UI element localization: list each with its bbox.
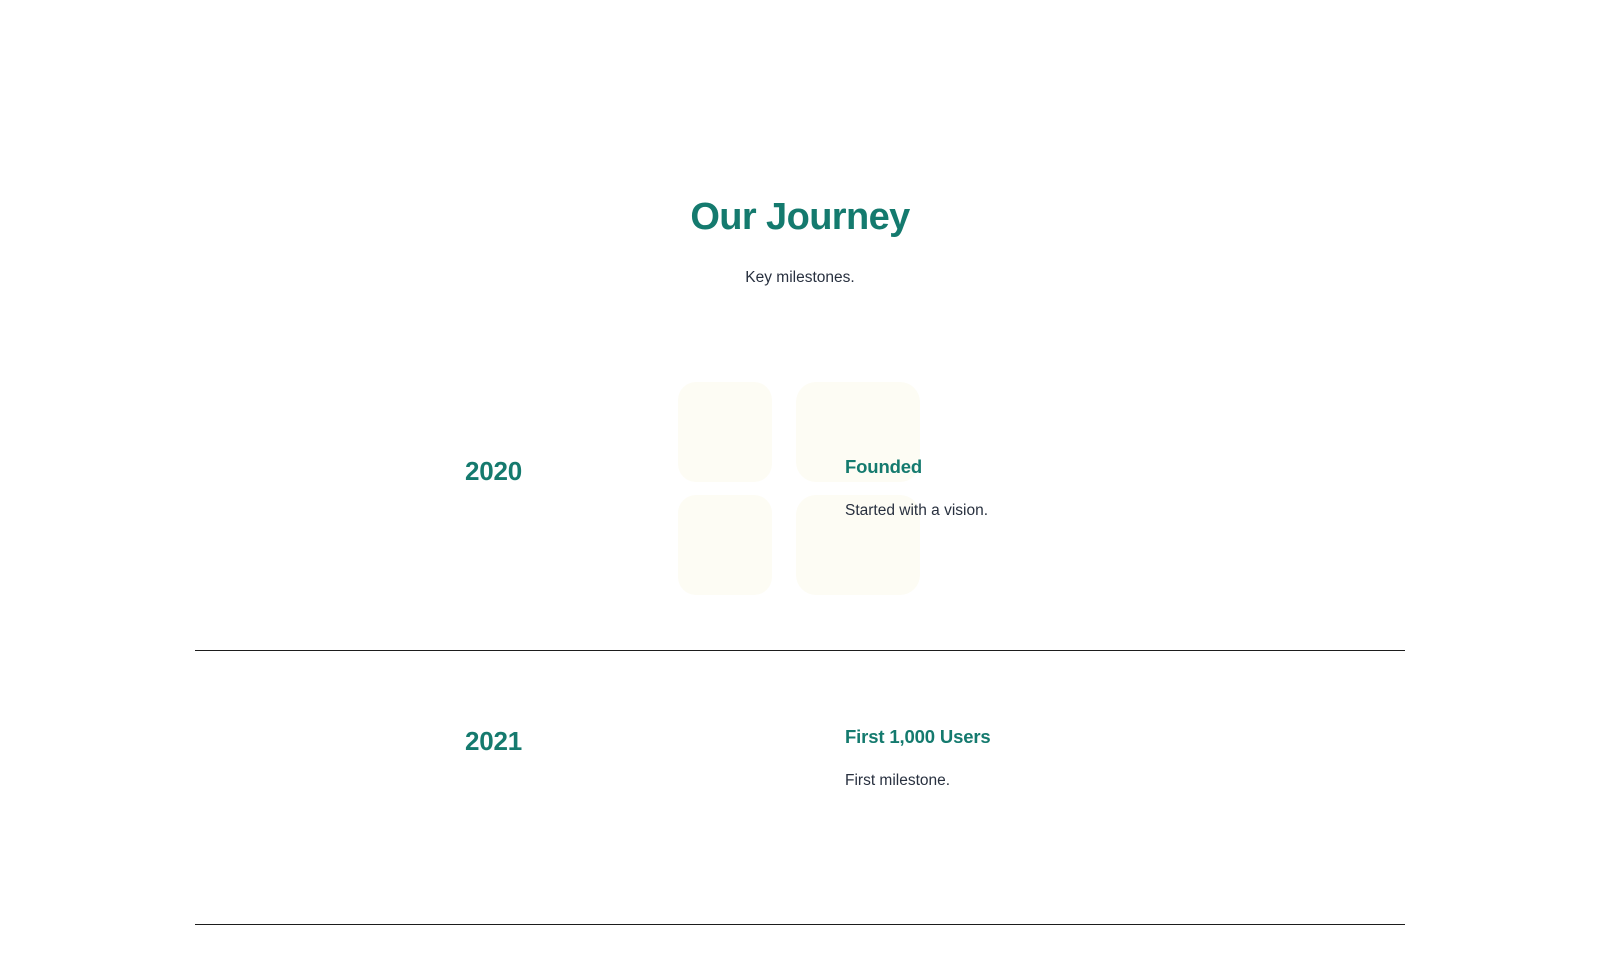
timeline-row: 2021 First 1,000 Users First milestone. [195, 725, 1405, 793]
section-header: Our Journey Key milestones. [0, 196, 1600, 288]
page-title: Our Journey [0, 196, 1600, 240]
timeline-row: 2020 Founded Started with a vision. [195, 455, 1405, 523]
timeline-title: First 1,000 Users [845, 725, 1405, 749]
timeline-year: 2020 [195, 455, 525, 488]
timeline-title: Founded [845, 455, 1405, 479]
timeline-row-body: First 1,000 Users First milestone. [525, 725, 1405, 793]
timeline-divider [195, 924, 1405, 925]
timeline-description: First milestone. [845, 770, 1405, 792]
page-subtitle: Key milestones. [0, 267, 1600, 289]
timeline-description: Started with a vision. [845, 500, 1405, 522]
page-root: Our Journey Key milestones. 2020 Founded… [0, 0, 1600, 978]
timeline-year: 2021 [195, 725, 525, 758]
timeline-divider [195, 650, 1405, 651]
timeline-row-body: Founded Started with a vision. [525, 455, 1405, 523]
